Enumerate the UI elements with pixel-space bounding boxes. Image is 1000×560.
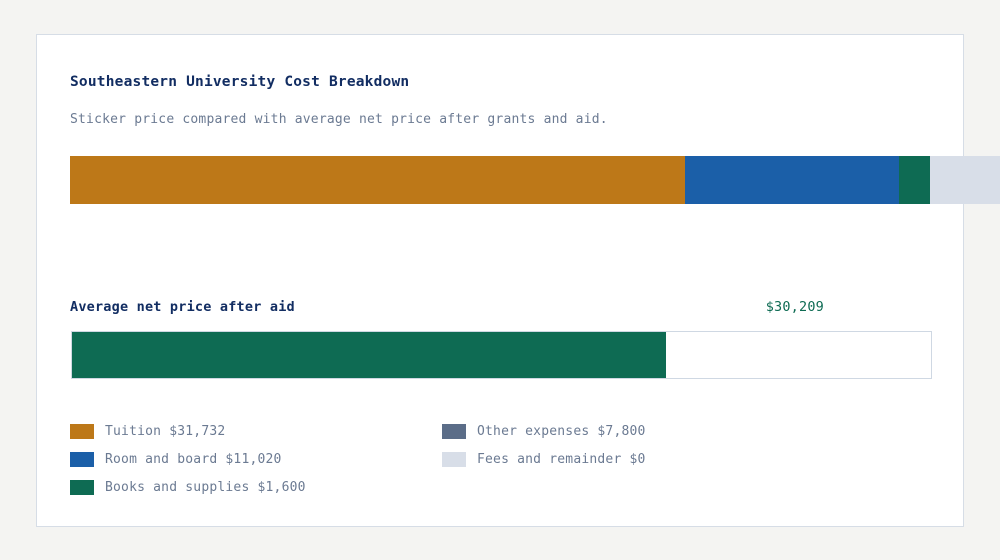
card-content: Southeastern University Cost Breakdown S… [37, 35, 963, 526]
legend-label-books-and-supplies: Books and supplies $1,600 [105, 480, 306, 495]
legend-item-fees-and-remainder: Fees and remainder $0 [442, 445, 646, 473]
sticker-price-bar [70, 156, 1000, 204]
page-subtitle: Sticker price compared with average net … [70, 112, 608, 127]
legend-label-fees-and-remainder: Fees and remainder $0 [477, 452, 646, 467]
legend-label-other-expenses: Other expenses $7,800 [477, 424, 646, 439]
net-price-bar-track [71, 331, 932, 379]
legend-label-room-and-board: Room and board $11,020 [105, 452, 282, 467]
legend-column-right: Other expenses $7,800 Fees and remainder… [442, 417, 646, 473]
legend-item-tuition: Tuition $31,732 [70, 417, 306, 445]
bar-segment-room-and-board [685, 156, 899, 204]
cost-breakdown-card: Southeastern University Cost Breakdown S… [36, 34, 964, 527]
page-title: Southeastern University Cost Breakdown [70, 74, 409, 90]
net-price-label: Average net price after aid [70, 299, 295, 315]
net-price-value: $30,209 [597, 299, 824, 315]
legend-column-left: Tuition $31,732 Room and board $11,020 B… [70, 417, 306, 501]
bar-segment-fees-and-remainder [930, 156, 1000, 204]
legend-swatch-tuition [70, 424, 94, 439]
bar-segment-tuition [70, 156, 685, 204]
legend-item-other-expenses: Other expenses $7,800 [442, 417, 646, 445]
net-price-bar-fill [72, 332, 666, 378]
legend-swatch-other-expenses [442, 424, 466, 439]
legend-swatch-books-and-supplies [70, 480, 94, 495]
legend-swatch-room-and-board [70, 452, 94, 467]
legend-label-tuition: Tuition $31,732 [105, 424, 225, 439]
legend-item-books-and-supplies: Books and supplies $1,600 [70, 473, 306, 501]
legend-swatch-fees-and-remainder [442, 452, 466, 467]
bar-segment-books-and-supplies [899, 156, 930, 204]
legend-item-room-and-board: Room and board $11,020 [70, 445, 306, 473]
